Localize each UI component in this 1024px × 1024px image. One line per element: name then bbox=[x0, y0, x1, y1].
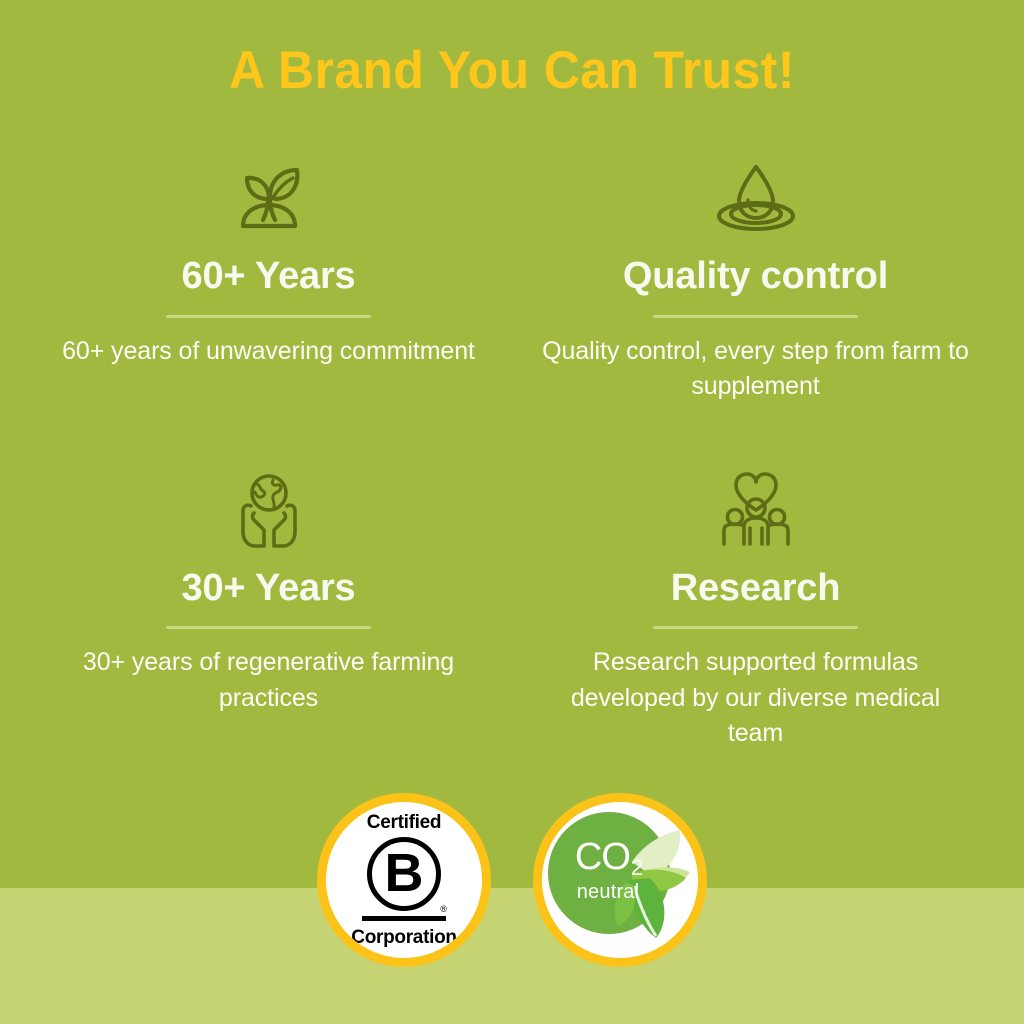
bcorp-letter: B bbox=[384, 846, 423, 900]
certified-b-corporation-badge: Certified B ® Corporation bbox=[317, 793, 491, 967]
feature-card-research: Research Research supported formulas dev… bbox=[517, 467, 994, 752]
co2-co-label: CO bbox=[575, 836, 630, 878]
hands-holding-globe-icon bbox=[227, 467, 311, 553]
feature-divider bbox=[653, 626, 858, 629]
feature-body: 60+ years of unwavering commitment bbox=[62, 334, 475, 370]
certification-badges: Certified B ® Corporation bbox=[0, 793, 1024, 967]
page-title: A Brand You Can Trust! bbox=[31, 42, 994, 100]
bcorp-b-mark: B bbox=[367, 837, 441, 911]
co2-formula: CO2 bbox=[552, 838, 664, 876]
co2-subscript: 2 bbox=[631, 855, 642, 880]
registered-trademark-icon: ® bbox=[440, 905, 447, 914]
feature-heading: 30+ Years bbox=[182, 567, 356, 610]
co2-logo: CO2 neutral bbox=[542, 802, 698, 958]
bcorp-corporation-label: Corporation bbox=[351, 928, 456, 947]
feature-body: Research supported formulas developed by… bbox=[541, 645, 971, 752]
feature-grid: 60+ Years 60+ years of unwavering commit… bbox=[30, 155, 994, 752]
co2-neutral-label: neutral bbox=[552, 882, 664, 902]
feature-heading: 60+ Years bbox=[182, 255, 356, 298]
water-droplet-icon bbox=[714, 155, 798, 241]
feature-divider bbox=[166, 315, 371, 318]
co2-neutral-badge: CO2 neutral bbox=[533, 793, 707, 967]
feature-divider bbox=[166, 626, 371, 629]
bcorp-certified-label: Certified bbox=[367, 813, 441, 832]
bcorp-logo: Certified B ® Corporation bbox=[351, 813, 456, 947]
feature-body: 30+ years of regenerative farming practi… bbox=[54, 645, 484, 716]
feature-heading: Research bbox=[671, 567, 841, 610]
bcorp-rule: ® bbox=[362, 916, 446, 921]
sprout-icon bbox=[227, 155, 311, 241]
feature-card-60-years: 60+ Years 60+ years of unwavering commit… bbox=[30, 155, 507, 405]
feature-body: Quality control, every step from farm to… bbox=[541, 334, 971, 405]
feature-divider bbox=[653, 315, 858, 318]
co2-text-block: CO2 neutral bbox=[552, 838, 664, 902]
feature-card-quality-control: Quality control Quality control, every s… bbox=[517, 155, 994, 405]
brand-trust-infographic: A Brand You Can Trust! 60+ bbox=[0, 0, 1024, 1024]
feature-heading: Quality control bbox=[623, 255, 888, 298]
feature-card-30-years: 30+ Years 30+ years of regenerative farm… bbox=[30, 467, 507, 752]
heart-family-icon bbox=[714, 467, 798, 553]
